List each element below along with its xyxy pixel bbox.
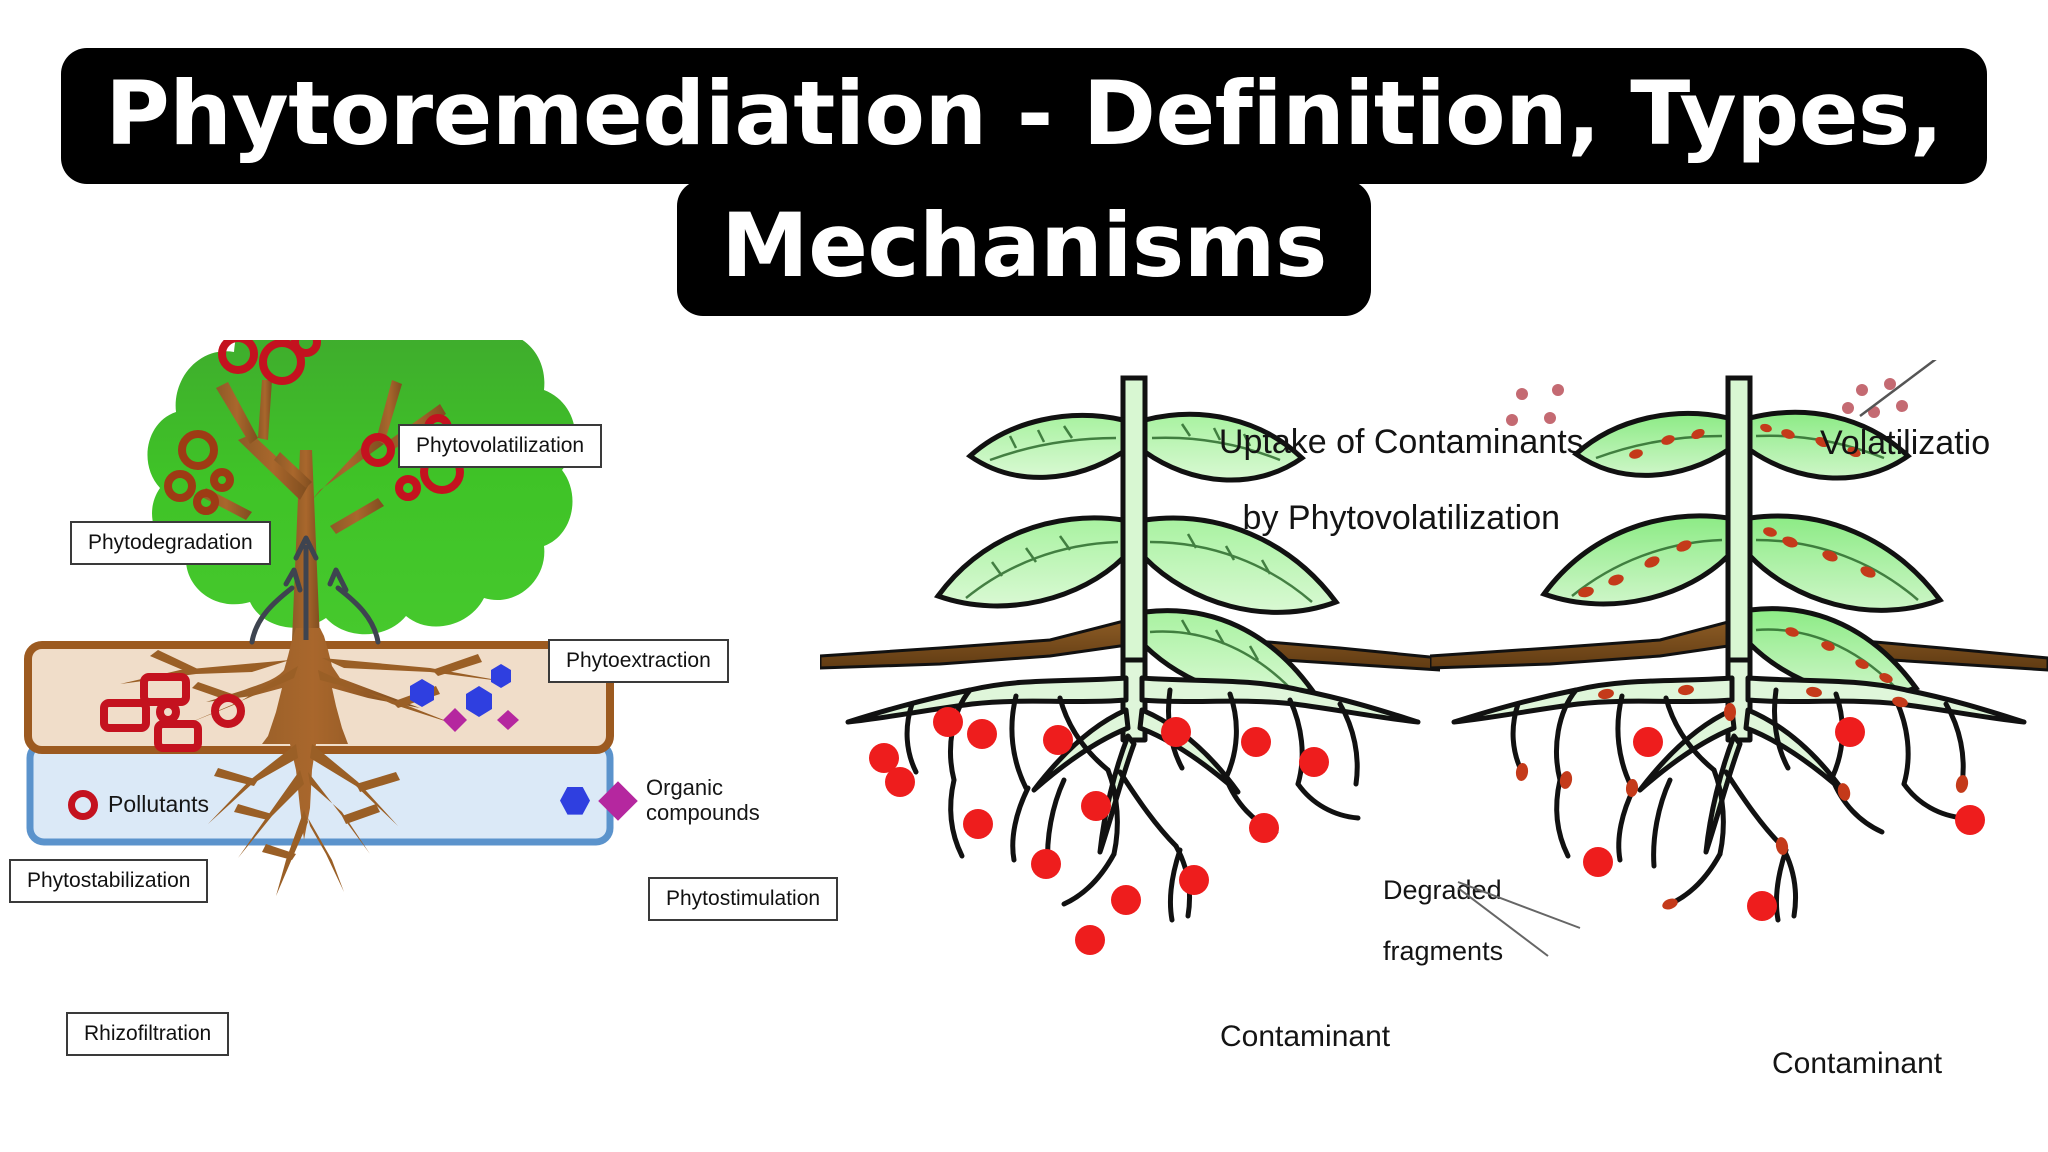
purple-diamond-icon: [598, 781, 638, 821]
leaf-upper-left: [970, 416, 1123, 478]
page-title-line-1: Phytoremediation - Definition, Types,: [61, 48, 1987, 184]
blue-hexagon-icon: [560, 787, 590, 815]
legend-organic-compounds: Organic compounds: [560, 776, 760, 825]
callout-phytostimulation[interactable]: Phytostimulation: [648, 877, 838, 921]
root-system: [848, 660, 1418, 852]
red-ring-icon: [68, 790, 98, 820]
degraded-fragments-leader-lines: [1430, 860, 1690, 970]
legend-pollutants: Pollutants: [68, 790, 209, 820]
leaf-mid-right: [1750, 516, 1940, 610]
page-title: Phytoremediation - Definition, Types, Me…: [0, 48, 2048, 316]
callout-phytodegradation[interactable]: Phytodegradation: [70, 521, 271, 565]
right-diagram-heading: Volatilizatio: [1820, 424, 1990, 462]
callout-rhizofiltration[interactable]: Rhizofiltration: [66, 1012, 229, 1056]
right-contaminant-label: Contaminant: [1772, 1047, 1942, 1081]
root-system: [1454, 660, 2024, 852]
legend-organic-line-1: Organic: [646, 775, 723, 800]
legend-pollutants-label: Pollutants: [108, 792, 209, 818]
middle-contaminant-label: Contaminant: [1220, 1020, 1390, 1054]
leaf-mid-left: [1544, 516, 1728, 604]
callout-phytovolatilization[interactable]: Phytovolatilization: [398, 424, 602, 468]
leaf-upper-left: [1576, 414, 1728, 476]
tree-canopy: [147, 340, 575, 634]
volatilized-vapor-dots-right: [1842, 378, 1908, 418]
page-title-line-2: Mechanisms: [677, 180, 1371, 316]
volatilized-vapor-dots-left: [1506, 384, 1564, 426]
callout-phytostabilization[interactable]: Phytostabilization: [9, 859, 208, 903]
volatilization-diagram: [1430, 360, 2048, 1152]
leaf-mid-left: [938, 518, 1123, 606]
legend-organic-compounds-label: Organic compounds: [646, 776, 760, 825]
right-plant-svg: [1430, 360, 2048, 1152]
callout-phytoextraction[interactable]: Phytoextraction: [548, 639, 729, 683]
legend-organic-line-2: compounds: [646, 800, 760, 825]
